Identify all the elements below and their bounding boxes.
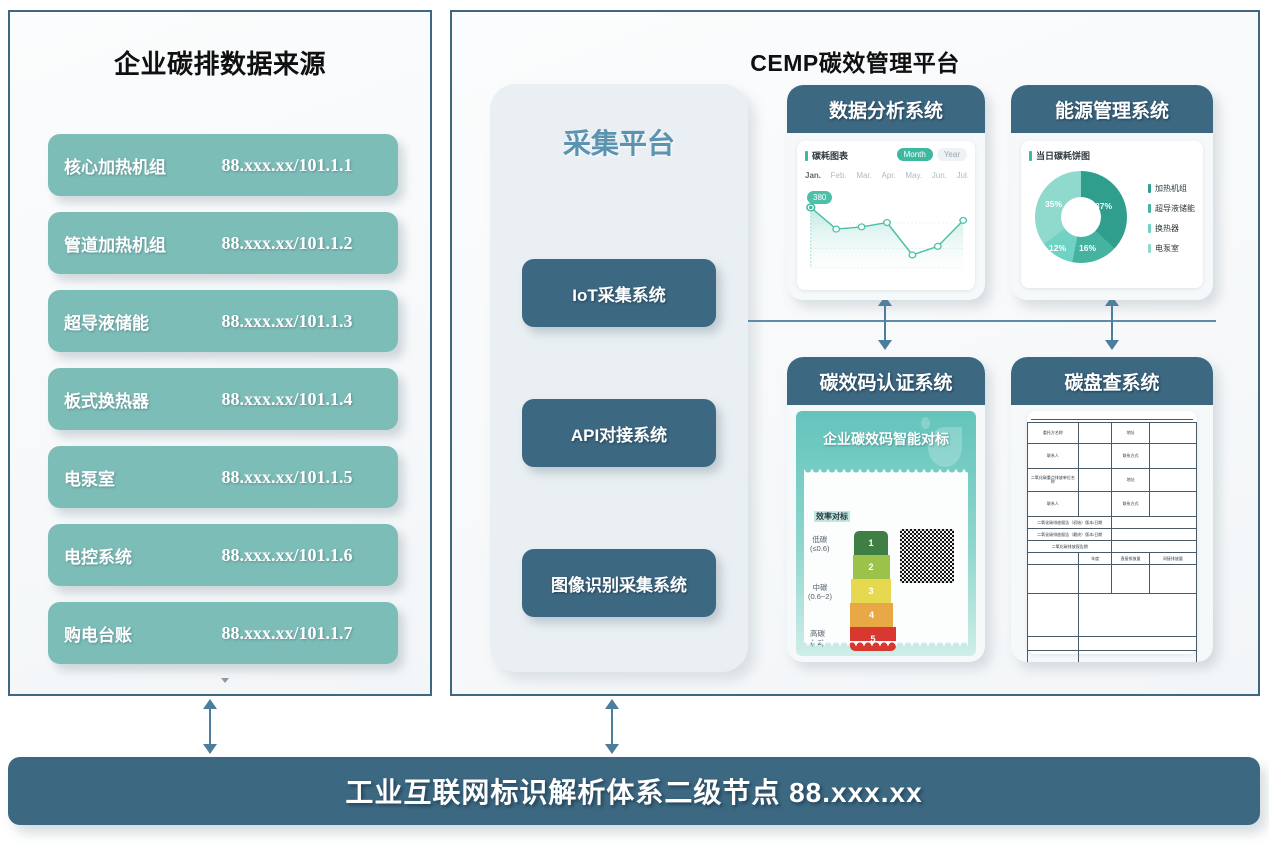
card-body: 当日碳耗饼图 37% 16% 12% 35% 加热机组 超导液储能 <box>1011 133 1213 300</box>
api-integration-system-button[interactable]: API对接系统 <box>522 399 716 467</box>
slice-label: 16% <box>1079 243 1096 253</box>
period-toggle[interactable]: Month Year <box>897 148 967 161</box>
legend-swatch <box>1148 204 1151 213</box>
data-source-panel: 企业碳排数据来源 核心加热机组 88.xxx.xx/101.1.1 管道加热机组… <box>8 10 432 696</box>
item-code: 88.xxx.xx/101.1.5 <box>192 467 382 488</box>
carbon-code-certification-card[interactable]: 碳效码认证系统 企业碳效码智能对标 效率对标 1 2 3 4 5 1级 <box>787 357 985 662</box>
row-value2 <box>1149 444 1196 469</box>
row-label: 委托方名称 <box>1028 423 1079 444</box>
banner-text: 工业互联网标识解析体系二级节点 88.xxx.xx <box>345 771 922 811</box>
right-panel-title: CEMP碳效管理平台 <box>452 44 1258 78</box>
chevron-down-icon[interactable] <box>221 678 229 683</box>
ladder-rung: 2 <box>853 555 890 579</box>
left-panel-title: 企业碳排数据来源 <box>10 44 430 81</box>
card-body: 委托方名称 地址 联系人 联系方式 二氧化碳重点排放单位名称 <box>1011 405 1213 662</box>
row-label: 联系人 <box>1028 492 1079 517</box>
item-name: 板式换热器 <box>64 387 192 412</box>
form-divider <box>1031 414 1193 420</box>
item-code: 88.xxx.xx/101.1.7 <box>192 623 382 644</box>
table-header-row: 年度 直接排放量 间接排放量 <box>1028 553 1197 565</box>
table-row: 联系人 联系方式 <box>1028 444 1197 469</box>
col-header: 直接排放量 <box>1112 553 1149 565</box>
industrial-internet-node-banner: 工业互联网标识解析体系二级节点 88.xxx.xx <box>8 757 1260 825</box>
row-value <box>1112 529 1197 541</box>
row-label <box>1028 651 1079 663</box>
chart-sheet: 碳耗图表 Month Year Jan. Feb. Mar. Apr. May.… <box>797 141 975 290</box>
tick-label: Apr. <box>882 171 896 180</box>
tick-label: Mar. <box>856 171 872 180</box>
item-code: 88.xxx.xx/101.1.4 <box>192 389 382 410</box>
chart-title: 当日碳耗饼图 <box>1029 149 1090 162</box>
row-value <box>1078 651 1196 663</box>
ladder-label-range: (0.6~2) <box>808 592 832 601</box>
chart-tooltip: 380 <box>807 191 832 204</box>
collection-platform-title: 采集平台 <box>490 122 748 162</box>
inventory-form-sheet: 委托方名称 地址 联系人 联系方式 二氧化碳重点排放单位名称 <box>1027 411 1197 654</box>
image-recognition-system-button[interactable]: 图像识别采集系统 <box>522 549 716 617</box>
pie-legend: 加热机组 超导液储能 换热器 电泵室 <box>1148 183 1195 263</box>
tick-label: Feb. <box>831 171 847 180</box>
row-label2: 联系方式 <box>1112 492 1149 517</box>
tick-label: Jan. <box>805 171 821 180</box>
legend-swatch <box>1148 244 1151 253</box>
row-value <box>1078 444 1112 469</box>
row-label <box>1028 594 1079 637</box>
row-value <box>1078 492 1112 517</box>
row-label: 二氧化碳重点排放单位名称 <box>1028 469 1079 492</box>
slice-label: 37% <box>1095 201 1112 211</box>
item-name: 电泵室 <box>64 465 192 490</box>
row-label <box>1028 565 1079 594</box>
item-code: 88.xxx.xx/101.1.6 <box>192 545 382 566</box>
row-value2 <box>1149 469 1196 492</box>
table-row <box>1028 594 1197 637</box>
col-blank <box>1028 553 1079 565</box>
row-value <box>1078 423 1112 444</box>
inventory-form-table: 委托方名称 地址 联系人 联系方式 二氧化碳重点排放单位名称 <box>1027 422 1197 662</box>
connector-vertical-energy <box>1111 303 1113 345</box>
connector-horizontal <box>748 320 1216 322</box>
row-value2 <box>1149 423 1196 444</box>
data-source-item[interactable]: 购电台账 88.xxx.xx/101.1.7 <box>48 602 398 664</box>
cert-app-screen: 企业碳效码智能对标 效率对标 1 2 3 4 5 1级 低碳 (≤0.6) <box>796 411 976 656</box>
row-value <box>1112 541 1197 553</box>
energy-management-card[interactable]: 能源管理系统 当日碳耗饼图 37% 16% 12% 35% 加热机组 超导液储能 <box>1011 85 1213 300</box>
row-label: 联系人 <box>1028 444 1079 469</box>
slice-label: 35% <box>1045 199 1062 209</box>
row-label: 二氧化碳排放报告（初始）版本/日期 <box>1028 517 1112 529</box>
table-row: 委托方名称 地址 <box>1028 423 1197 444</box>
card-header: 碳效码认证系统 <box>787 357 985 405</box>
row-value <box>1112 565 1149 594</box>
cert-banner-title: 企业碳效码智能对标 <box>796 429 976 449</box>
row-label2: 地址 <box>1112 469 1149 492</box>
ladder-label-title: 高碳 <box>810 629 825 638</box>
row-label2: 地址 <box>1112 423 1149 444</box>
table-row: 二氧化碳重点排放单位名称 地址 <box>1028 469 1197 492</box>
row-value <box>1078 594 1196 637</box>
droplet-icon <box>921 417 930 429</box>
ladder-label-range: (≤0.6) <box>810 544 830 553</box>
table-row: 二氧化碳排放报告期 <box>1028 541 1197 553</box>
data-source-item[interactable]: 核心加热机组 88.xxx.xx/101.1.1 <box>48 134 398 196</box>
item-name: 电控系统 <box>64 543 192 568</box>
row-value2 <box>1149 492 1196 517</box>
efficiency-ladder: 1 2 3 4 5 <box>850 531 892 651</box>
table-row <box>1028 651 1197 663</box>
card-header: 能源管理系统 <box>1011 85 1213 133</box>
line-chart: 380 <box>805 185 969 280</box>
data-source-item[interactable]: 超导液储能 88.xxx.xx/101.1.3 <box>48 290 398 352</box>
card-header: 数据分析系统 <box>787 85 985 133</box>
legend-label: 电泵室 <box>1155 243 1179 254</box>
cert-paper: 效率对标 1 2 3 4 5 1级 低碳 (≤0.6) 中碳 <box>804 473 968 642</box>
row-label <box>1028 637 1079 651</box>
iot-collection-system-button[interactable]: IoT采集系统 <box>522 259 716 327</box>
slice-label: 12% <box>1049 243 1066 253</box>
row-label2: 联系方式 <box>1112 444 1149 469</box>
qr-code-icon[interactable] <box>900 529 954 583</box>
row-value <box>1078 469 1112 492</box>
efficiency-section-label: 效率对标 <box>814 511 850 522</box>
arrow-down-icon <box>203 744 217 754</box>
legend-swatch <box>1148 184 1151 193</box>
table-row: 二氧化碳排放报告（初始）版本/日期 <box>1028 517 1197 529</box>
item-code: 88.xxx.xx/101.1.1 <box>192 155 382 176</box>
item-code: 88.xxx.xx/101.1.2 <box>192 233 382 254</box>
toggle-month[interactable]: Month <box>897 148 933 161</box>
chart-title: 碳耗图表 <box>805 149 848 162</box>
ladder-label-title: 低碳 <box>810 535 830 544</box>
data-source-item[interactable]: 电控系统 88.xxx.xx/101.1.6 <box>48 524 398 586</box>
legend-item: 电泵室 <box>1148 243 1195 254</box>
arrow-down-icon <box>605 744 619 754</box>
ladder-label-title: 中碳 <box>808 583 832 592</box>
pie-sheet: 当日碳耗饼图 37% 16% 12% 35% 加热机组 超导液储能 <box>1021 141 1203 288</box>
form-corner-note <box>1190 413 1191 417</box>
legend-label: 换热器 <box>1155 223 1179 234</box>
legend-item: 超导液储能 <box>1148 203 1195 214</box>
row-value <box>1149 565 1196 594</box>
card-body: 企业碳效码智能对标 效率对标 1 2 3 4 5 1级 低碳 (≤0.6) <box>787 405 985 662</box>
arrow-up-icon <box>605 699 619 709</box>
connector-vertical-analysis <box>884 303 886 345</box>
diagram-canvas: 企业碳排数据来源 核心加热机组 88.xxx.xx/101.1.1 管道加热机组… <box>0 0 1269 849</box>
ladder-label: 低碳 (≤0.6) <box>810 535 830 554</box>
item-name: 购电台账 <box>64 621 192 646</box>
ladder-rung: 1 <box>854 531 888 555</box>
collection-platform-group: 采集平台 IoT采集系统 API对接系统 图像识别采集系统 <box>490 84 748 672</box>
legend-label: 超导液储能 <box>1155 203 1195 214</box>
legend-item: 加热机组 <box>1148 183 1195 194</box>
ladder-rung: 4 <box>850 603 893 627</box>
carbon-inventory-card[interactable]: 碳盘查系统 委托方名称 地址 联系人 联系方式 <box>1011 357 1213 662</box>
row-value <box>1112 517 1197 529</box>
ladder-label: 中碳 (0.6~2) <box>808 583 832 602</box>
table-row: 二氧化碳排放报告（最终）版本/日期 <box>1028 529 1197 541</box>
arrow-up-icon <box>203 699 217 709</box>
data-source-item[interactable]: 板式换热器 88.xxx.xx/101.1.4 <box>48 368 398 430</box>
col-header: 间接排放量 <box>1149 553 1196 565</box>
data-analysis-card[interactable]: 数据分析系统 碳耗图表 Month Year Jan. Feb. Mar. Ap… <box>787 85 985 300</box>
ladder-rung: 3 <box>851 579 891 603</box>
month-axis-labels: Jan. Feb. Mar. Apr. May. Jun. Jul. <box>805 171 969 180</box>
card-header: 碳盘查系统 <box>1011 357 1213 405</box>
arrow-down-icon <box>878 340 892 350</box>
ladder-label: 高碳 (>2) <box>810 629 825 648</box>
tick-label: Jun. <box>932 171 947 180</box>
row-label: 二氧化碳排放报告期 <box>1028 541 1112 553</box>
row-value <box>1078 565 1112 594</box>
legend-label: 加热机组 <box>1155 183 1187 194</box>
item-name: 管道加热机组 <box>64 231 192 256</box>
arrow-down-icon <box>1105 340 1119 350</box>
row-label: 二氧化碳排放报告（最终）版本/日期 <box>1028 529 1112 541</box>
card-body: 碳耗图表 Month Year Jan. Feb. Mar. Apr. May.… <box>787 133 985 300</box>
table-row <box>1028 637 1197 651</box>
data-source-item[interactable]: 管道加热机组 88.xxx.xx/101.1.2 <box>48 212 398 274</box>
item-name: 超导液储能 <box>64 309 192 334</box>
item-name: 核心加热机组 <box>64 153 192 178</box>
data-source-item[interactable]: 电泵室 88.xxx.xx/101.1.5 <box>48 446 398 508</box>
legend-swatch <box>1148 224 1151 233</box>
ladder-label-range: (>2) <box>810 638 825 647</box>
col-header: 年度 <box>1078 553 1112 565</box>
table-row <box>1028 565 1197 594</box>
row-value <box>1078 637 1196 651</box>
table-row: 联系人 联系方式 <box>1028 492 1197 517</box>
tick-label: Jul. <box>957 171 969 180</box>
toggle-year[interactable]: Year <box>937 148 967 161</box>
item-code: 88.xxx.xx/101.1.3 <box>192 311 382 332</box>
legend-item: 换热器 <box>1148 223 1195 234</box>
ladder-rung: 5 <box>850 627 896 651</box>
tick-label: May. <box>905 171 922 180</box>
